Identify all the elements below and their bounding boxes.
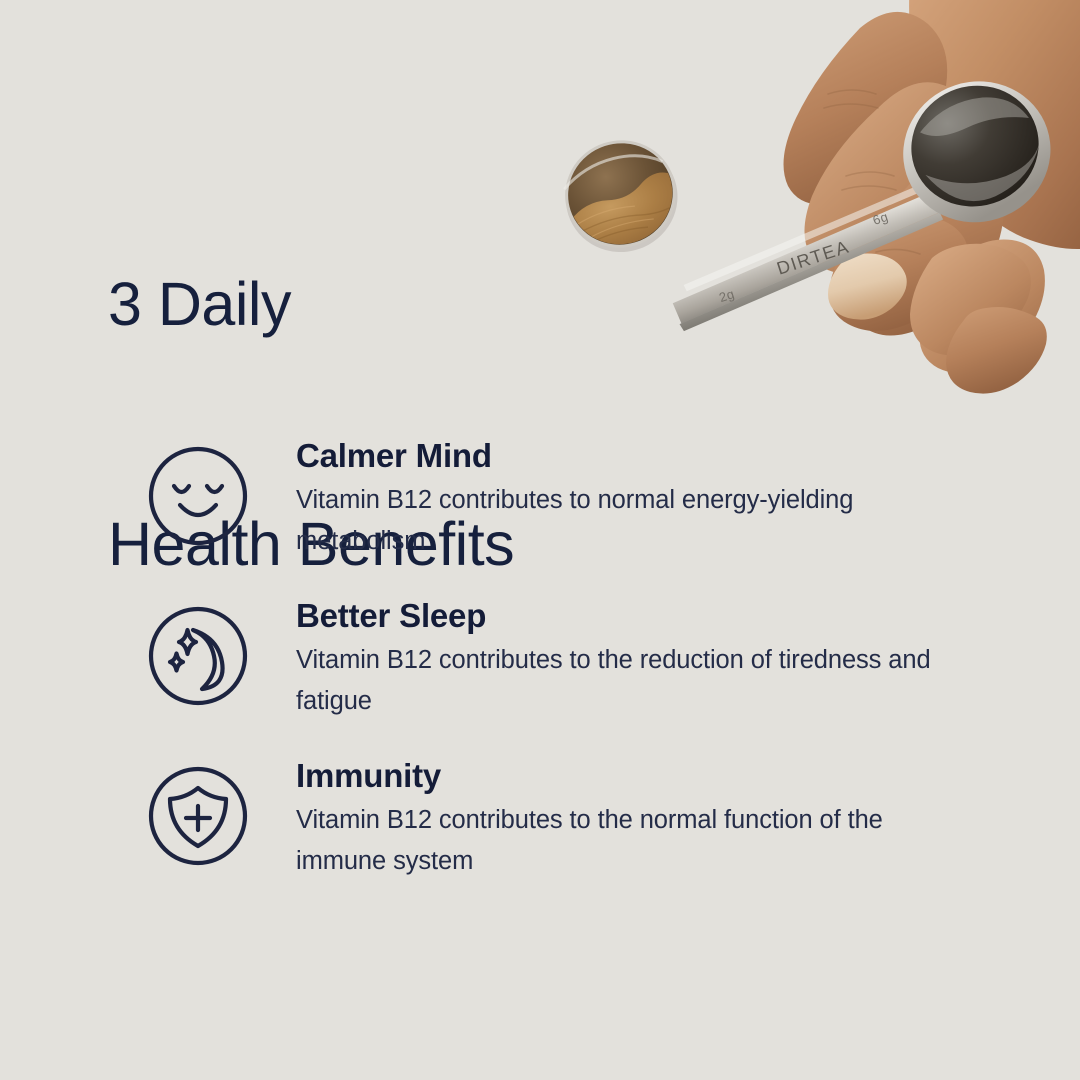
benefit-title: Calmer Mind — [296, 436, 996, 476]
moon-stars-icon — [146, 604, 250, 708]
benefit-text-block: Immunity Vitamin B12 contributes to the … — [296, 756, 996, 882]
benefit-description: Vitamin B12 contributes to the reduction… — [296, 640, 956, 722]
benefit-item-calmer-mind: Calmer Mind Vitamin B12 contributes to n… — [146, 440, 1006, 558]
benefit-text-block: Better Sleep Vitamin B12 contributes to … — [296, 596, 996, 722]
benefit-item-immunity: Immunity Vitamin B12 contributes to the … — [146, 760, 1006, 878]
benefits-list: Calmer Mind Vitamin B12 contributes to n… — [0, 0, 1080, 1080]
benefit-description: Vitamin B12 contributes to the normal fu… — [296, 800, 976, 882]
benefit-item-better-sleep: Better Sleep Vitamin B12 contributes to … — [146, 600, 1006, 718]
benefit-description: Vitamin B12 contributes to normal energy… — [296, 480, 956, 562]
shield-plus-icon — [146, 764, 250, 868]
calm-face-icon — [146, 444, 250, 548]
benefits-infographic: 3 Daily Health Benefits — [0, 0, 1080, 1080]
benefit-text-block: Calmer Mind Vitamin B12 contributes to n… — [296, 436, 996, 562]
benefit-title: Immunity — [296, 756, 996, 796]
benefit-title: Better Sleep — [296, 596, 996, 636]
